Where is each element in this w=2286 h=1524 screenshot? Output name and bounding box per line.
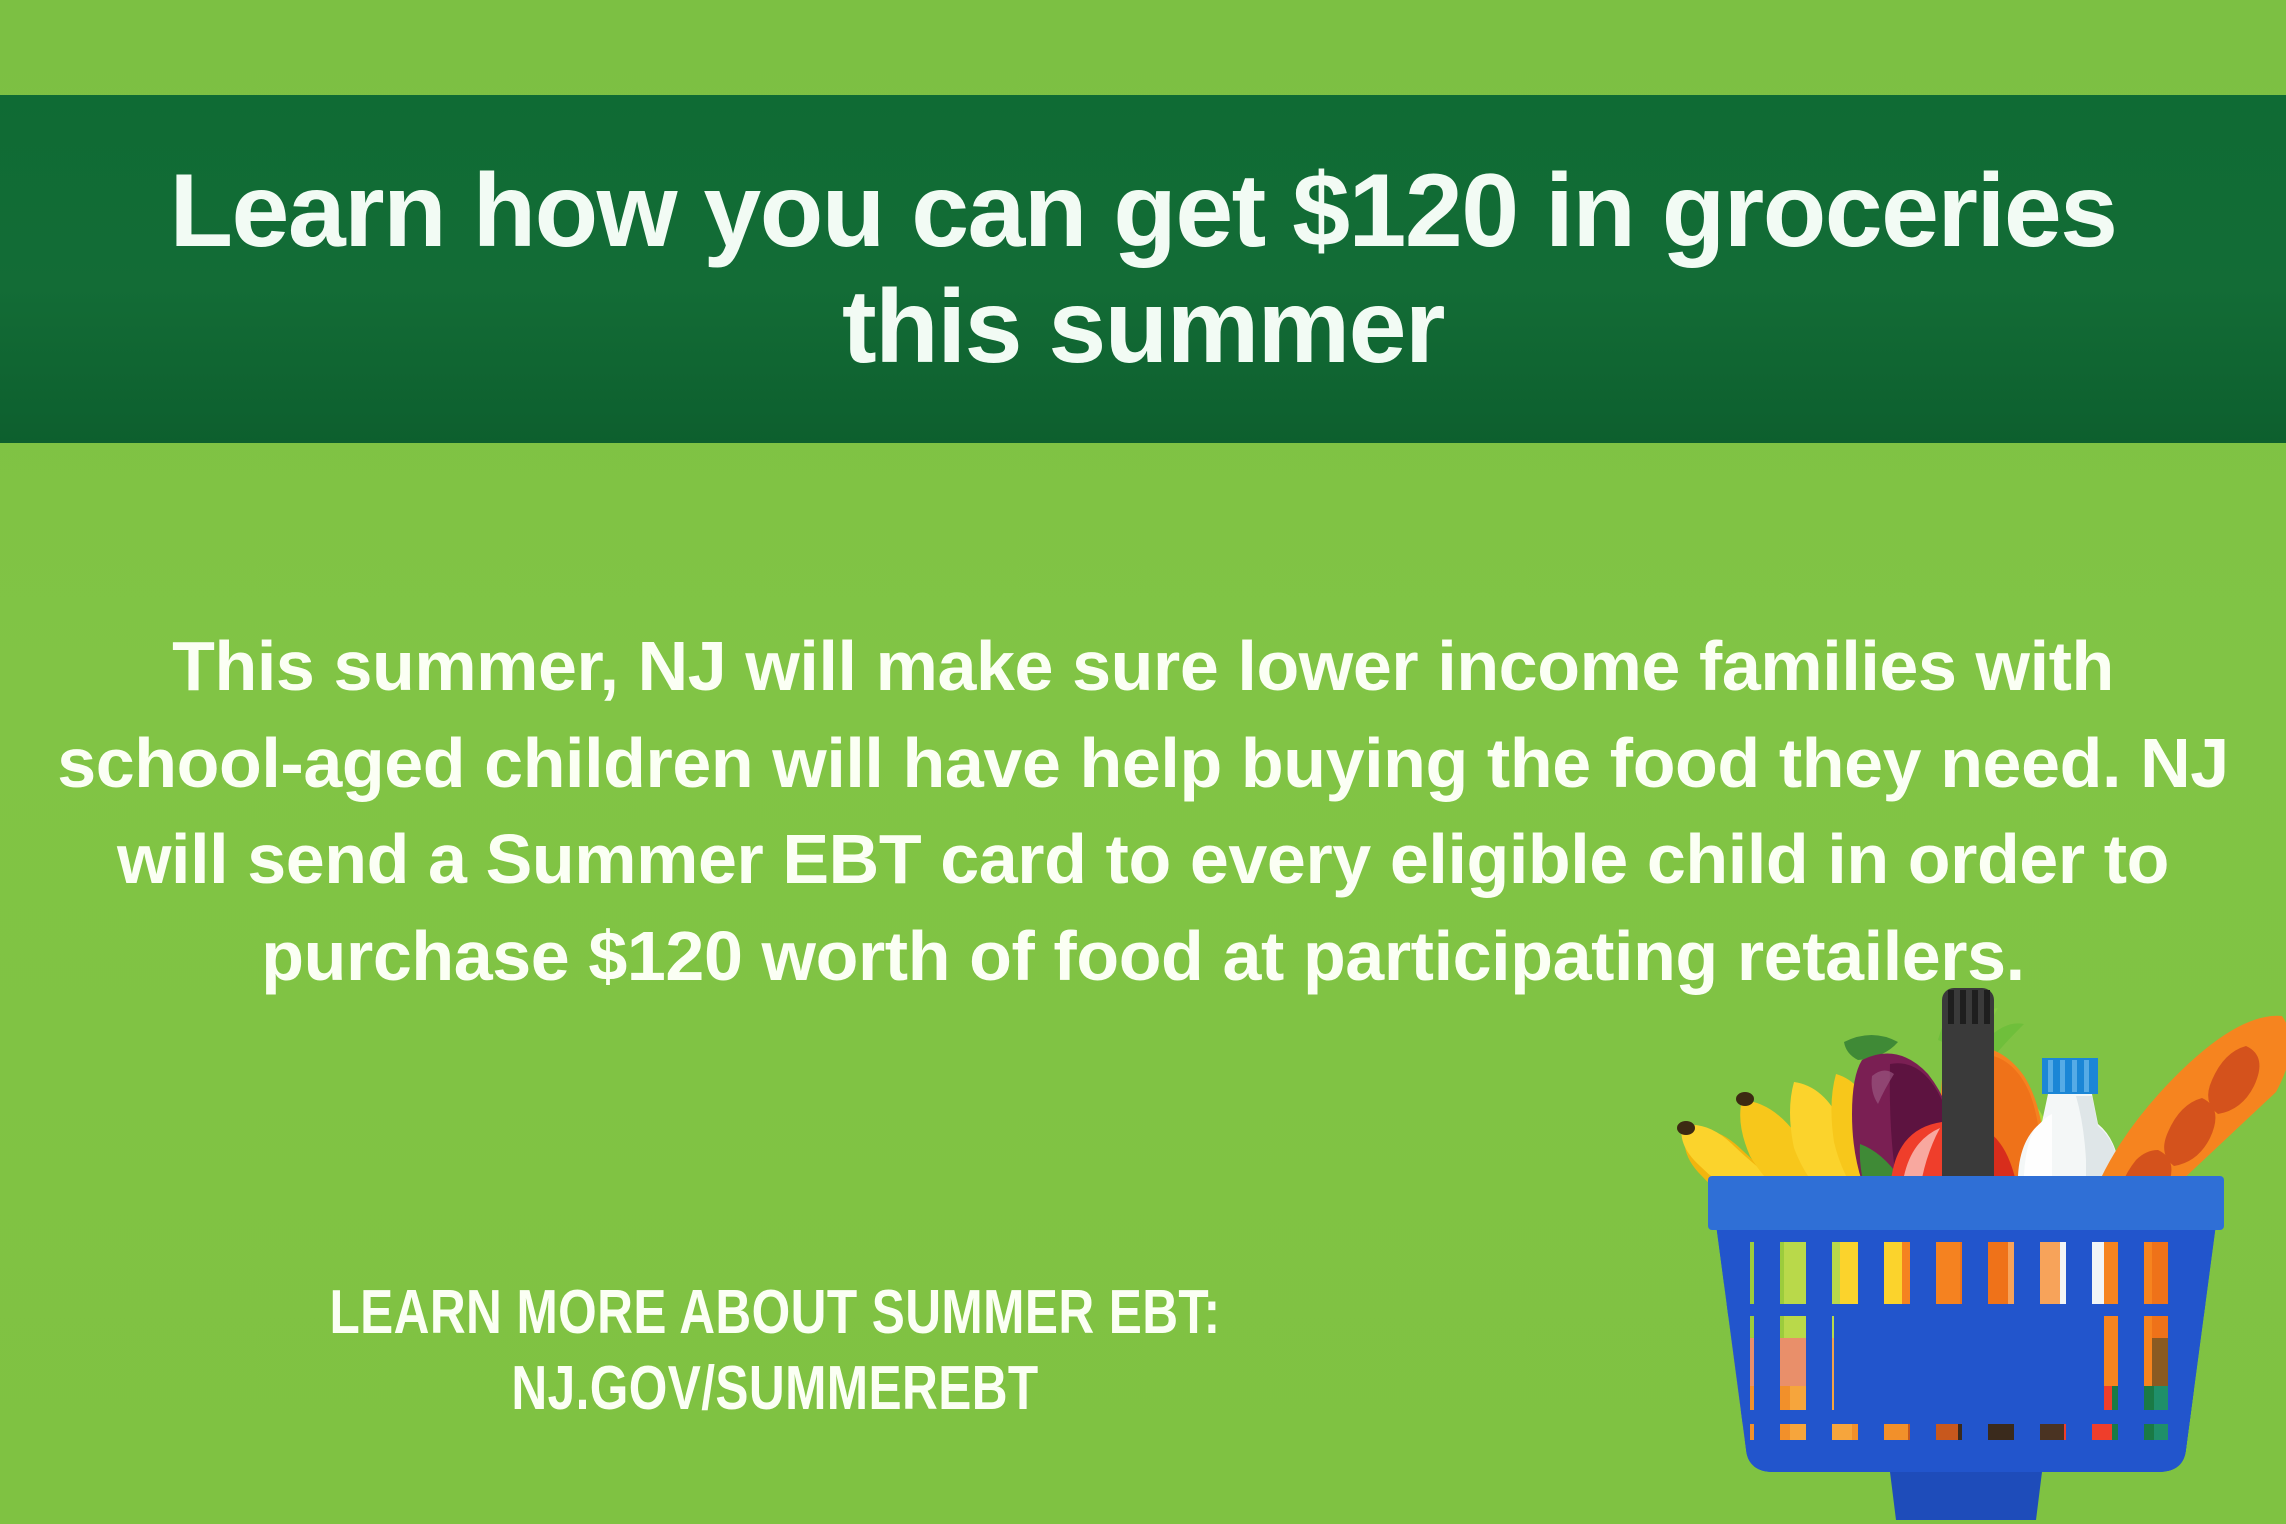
call-to-action: LEARN MORE ABOUT SUMMER EBT: NJ.GOV/SUMM… xyxy=(275,1275,1275,1426)
cta-line-2[interactable]: NJ.GOV/SUMMEREBT xyxy=(275,1351,1275,1427)
grocery-basket-illustration xyxy=(1646,924,2286,1524)
banner: Learn how you can get $120 in groceries … xyxy=(0,95,2286,443)
cta-line-1: LEARN MORE ABOUT SUMMER EBT: xyxy=(275,1275,1275,1351)
body-paragraph: This summer, NJ will make sure lower inc… xyxy=(0,618,2286,1004)
basket-foot xyxy=(1890,1472,2042,1520)
page-title: Learn how you can get $120 in groceries … xyxy=(103,153,2183,386)
basket-rim xyxy=(1708,1176,2224,1230)
basket-icon xyxy=(1708,988,2224,1520)
poster-canvas: Learn how you can get $120 in groceries … xyxy=(0,0,2286,1524)
